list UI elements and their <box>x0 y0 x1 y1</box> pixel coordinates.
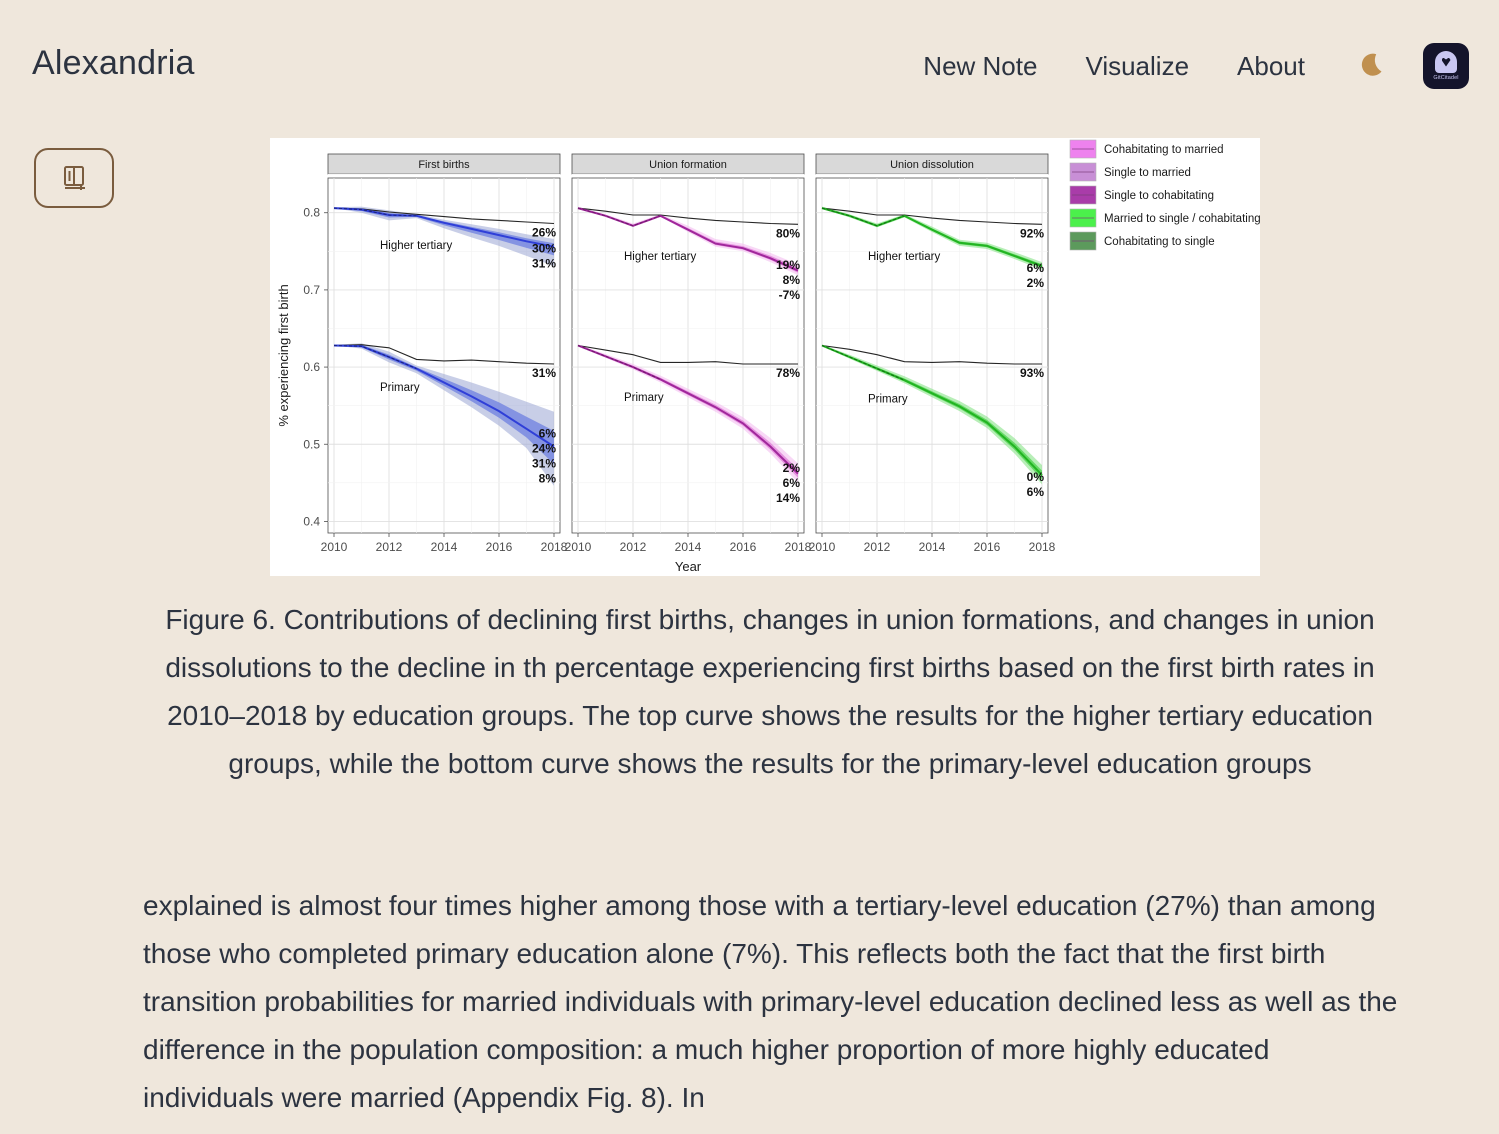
svg-text:8%: 8% <box>539 472 557 486</box>
svg-text:-7%: -7% <box>779 288 801 302</box>
svg-text:Year: Year <box>675 559 702 574</box>
citadel-icon <box>1435 51 1457 73</box>
svg-text:2010: 2010 <box>321 540 348 554</box>
svg-text:First births: First births <box>418 159 470 171</box>
app-header: Alexandria New Note Visualize About GitC… <box>0 0 1499 128</box>
svg-text:Higher tertiary: Higher tertiary <box>624 251 696 263</box>
svg-text:0.8: 0.8 <box>303 206 320 220</box>
svg-text:93%: 93% <box>1020 366 1044 380</box>
nav-item-about[interactable]: About <box>1213 51 1329 82</box>
svg-text:Married to single / cohabitati: Married to single / cohabitating <box>1104 213 1260 225</box>
svg-text:2014: 2014 <box>675 540 702 554</box>
svg-text:2016: 2016 <box>974 540 1001 554</box>
svg-text:0.4: 0.4 <box>303 514 320 528</box>
svg-text:Primary: Primary <box>868 394 908 406</box>
facet-line-chart: First births20102012201420162018Union fo… <box>270 138 1260 576</box>
svg-text:92%: 92% <box>1020 226 1044 240</box>
svg-text:2%: 2% <box>783 461 801 475</box>
svg-text:31%: 31% <box>532 457 556 471</box>
svg-text:26%: 26% <box>532 226 556 240</box>
svg-text:24%: 24% <box>532 442 556 456</box>
moon-icon <box>1356 49 1390 83</box>
svg-text:2014: 2014 <box>919 540 946 554</box>
svg-text:2016: 2016 <box>486 540 513 554</box>
svg-text:2012: 2012 <box>376 540 403 554</box>
logo-caption: GitCitadel <box>1433 75 1458 81</box>
svg-text:78%: 78% <box>776 366 800 380</box>
svg-text:Higher tertiary: Higher tertiary <box>868 251 940 263</box>
svg-text:30%: 30% <box>532 242 556 256</box>
svg-text:2010: 2010 <box>809 540 836 554</box>
svg-text:2014: 2014 <box>431 540 458 554</box>
page-root: Alexandria New Note Visualize About GitC… <box>0 0 1499 1134</box>
svg-text:2012: 2012 <box>620 540 647 554</box>
app-brand[interactable]: Alexandria <box>32 44 195 83</box>
svg-text:80%: 80% <box>776 226 800 240</box>
figure-caption: Figure 6. Contributions of declining fir… <box>140 596 1400 788</box>
svg-text:2016: 2016 <box>730 540 757 554</box>
body-paragraph: explained is almost four times higher am… <box>143 882 1399 1122</box>
svg-text:Primary: Primary <box>380 382 420 394</box>
svg-text:Union dissolution: Union dissolution <box>890 159 974 171</box>
svg-text:2%: 2% <box>1027 276 1045 290</box>
svg-text:0.5: 0.5 <box>303 437 320 451</box>
theme-toggle-button[interactable] <box>1347 40 1399 92</box>
svg-text:0%: 0% <box>1027 470 1045 484</box>
nav-item-visualize[interactable]: Visualize <box>1061 51 1213 82</box>
nav-item-new-note[interactable]: New Note <box>899 51 1061 82</box>
svg-text:2012: 2012 <box>864 540 891 554</box>
main-nav: New Note Visualize About GitCitadel <box>899 40 1469 92</box>
svg-text:8%: 8% <box>783 273 801 287</box>
svg-text:6%: 6% <box>1027 261 1045 275</box>
svg-text:0.7: 0.7 <box>303 283 320 297</box>
svg-text:31%: 31% <box>532 257 556 271</box>
svg-text:2018: 2018 <box>785 540 812 554</box>
svg-text:% experiencing first birth: % experiencing first birth <box>276 284 291 426</box>
svg-text:6%: 6% <box>1027 485 1045 499</box>
svg-text:14%: 14% <box>776 491 800 505</box>
svg-text:2018: 2018 <box>541 540 568 554</box>
svg-text:Cohabitating to single: Cohabitating to single <box>1104 236 1215 248</box>
svg-text:2018: 2018 <box>1029 540 1056 554</box>
svg-text:Single to married: Single to married <box>1104 167 1191 179</box>
svg-text:6%: 6% <box>783 476 801 490</box>
svg-text:Union formation: Union formation <box>649 159 727 171</box>
book-icon <box>59 163 89 193</box>
library-button[interactable] <box>34 148 114 208</box>
svg-text:19%: 19% <box>776 258 800 272</box>
svg-text:0.6: 0.6 <box>303 360 320 374</box>
figure-image[interactable]: First births20102012201420162018Union fo… <box>270 138 1260 576</box>
gitcitadel-logo[interactable]: GitCitadel <box>1423 43 1469 89</box>
svg-text:Single to cohabitating: Single to cohabitating <box>1104 190 1214 202</box>
svg-text:2010: 2010 <box>565 540 592 554</box>
svg-text:Higher tertiary: Higher tertiary <box>380 240 452 252</box>
svg-text:31%: 31% <box>532 366 556 380</box>
svg-text:Cohabitating to married: Cohabitating to married <box>1104 144 1224 156</box>
svg-text:Primary: Primary <box>624 392 664 404</box>
svg-text:6%: 6% <box>539 427 557 441</box>
